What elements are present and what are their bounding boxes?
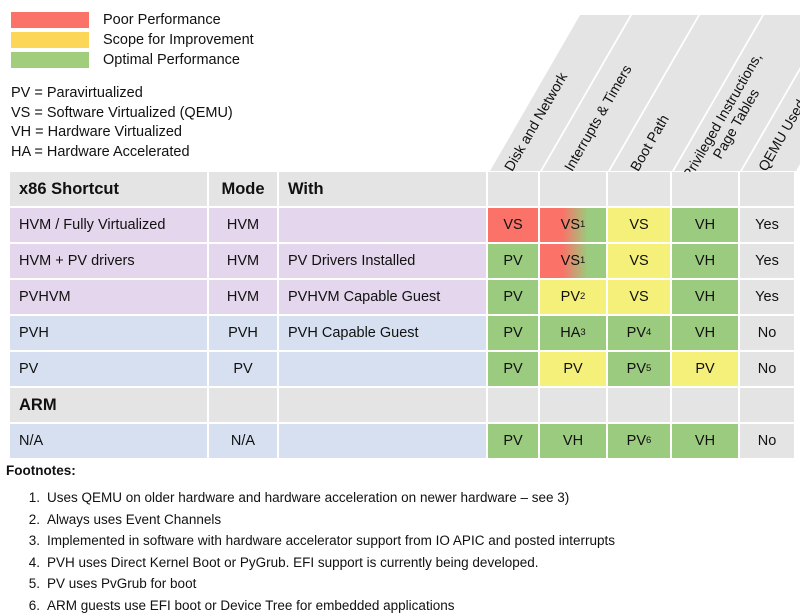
cell-disk-and-network: VS [488, 208, 538, 242]
cell-with [279, 208, 486, 242]
cell-x86-shortcut: N/A [10, 424, 207, 458]
table-row: PVPVPVPVPV5PVNo [10, 352, 790, 386]
cell-with: PVHVM Capable Guest [279, 280, 486, 314]
cell-x86-shortcut: HVM + PV drivers [10, 244, 207, 278]
cell-mode: HVM [209, 244, 277, 278]
table-row: HVM + PV driversHVMPV Drivers InstalledP… [10, 244, 790, 278]
cell-interrupts-and-timers: VS1 [540, 208, 606, 242]
footnote-text: Always uses Event Channels [47, 509, 796, 531]
table-header-row: x86 Shortcut Mode With [10, 172, 790, 206]
cell-boot-path: VS [608, 208, 670, 242]
cell-boot-path: VS [608, 280, 670, 314]
cell-x86-shortcut: PVHVM [10, 280, 207, 314]
header-privileged-instructions [672, 172, 738, 206]
cell-with [279, 352, 486, 386]
footnote-text: ARM guests use EFI boot or Device Tree f… [47, 595, 796, 616]
cell-privileged-instructions: PV [672, 352, 738, 386]
cell-boot-path: PV6 [608, 424, 670, 458]
cell-mode: HVM [209, 280, 277, 314]
footnote-number: 3. [6, 530, 47, 552]
footnotes-section: Footnotes: 1.Uses QEMU on older hardware… [6, 463, 796, 616]
footnotes-title: Footnotes: [6, 463, 796, 478]
cell-mode: N/A [209, 424, 277, 458]
section-arm-d1 [488, 388, 538, 422]
cell-x86-shortcut: PV [10, 352, 207, 386]
section-label-arm: ARM [10, 388, 207, 422]
cell-disk-and-network: PV [488, 424, 538, 458]
section-arm-with [279, 388, 486, 422]
cell-boot-path: PV5 [608, 352, 670, 386]
footnote-item: 3.Implemented in software with hardware … [6, 530, 796, 552]
table-row: HVM / Fully VirtualizedHVMVSVS1VSVHYes [10, 208, 790, 242]
footnote-number: 6. [6, 595, 47, 616]
footnote-item: 4.PVH uses Direct Kernel Boot or PyGrub.… [6, 552, 796, 574]
cell-privileged-instructions: VH [672, 244, 738, 278]
section-arm-mode [209, 388, 277, 422]
footnote-number: 5. [6, 573, 47, 595]
diagonal-header-band: Disk and NetworkInterrupts & TimersBoot … [0, 0, 800, 175]
cell-qemu-used: Yes [740, 280, 794, 314]
cell-x86-shortcut: PVH [10, 316, 207, 350]
cell-mode: PVH [209, 316, 277, 350]
cell-qemu-used: No [740, 352, 794, 386]
section-arm-d2 [540, 388, 606, 422]
cell-privileged-instructions: VH [672, 208, 738, 242]
cell-qemu-used: No [740, 424, 794, 458]
comparison-table: x86 Shortcut Mode With HVM / Fully Virtu… [10, 172, 790, 460]
header-boot-path [608, 172, 670, 206]
footnote-text: PV uses PvGrub for boot [47, 573, 796, 595]
cell-mode: PV [209, 352, 277, 386]
cell-interrupts-and-timers: VS1 [540, 244, 606, 278]
section-arm-d4 [672, 388, 738, 422]
footnote-number: 4. [6, 552, 47, 574]
cell-qemu-used: Yes [740, 244, 794, 278]
footnote-number: 1. [6, 487, 47, 509]
cell-privileged-instructions: VH [672, 316, 738, 350]
section-arm-d3 [608, 388, 670, 422]
cell-privileged-instructions: VH [672, 424, 738, 458]
cell-interrupts-and-timers: HA3 [540, 316, 606, 350]
table-row: PVHPVHPVH Capable GuestPVHA3PV4VHNo [10, 316, 790, 350]
footnote-text: PVH uses Direct Kernel Boot or PyGrub. E… [47, 552, 796, 574]
footnote-item: 1.Uses QEMU on older hardware and hardwa… [6, 487, 796, 509]
cell-qemu-used: Yes [740, 208, 794, 242]
footnote-item: 6.ARM guests use EFI boot or Device Tree… [6, 595, 796, 616]
cell-disk-and-network: PV [488, 352, 538, 386]
header-mode: Mode [209, 172, 277, 206]
footnote-item: 5.PV uses PvGrub for boot [6, 573, 796, 595]
cell-x86-shortcut: HVM / Fully Virtualized [10, 208, 207, 242]
header-with: With [279, 172, 486, 206]
cell-interrupts-and-timers: PV2 [540, 280, 606, 314]
table-section-row-arm: ARM [10, 388, 790, 422]
cell-with: PVH Capable Guest [279, 316, 486, 350]
table-row: N/AN/APVVHPV6VHNo [10, 424, 790, 458]
cell-disk-and-network: PV [488, 316, 538, 350]
cell-with [279, 424, 486, 458]
footnote-item: 2.Always uses Event Channels [6, 509, 796, 531]
header-interrupts-and-timers [540, 172, 606, 206]
cell-qemu-used: No [740, 316, 794, 350]
header-qemu-used [740, 172, 794, 206]
header-x86-shortcut: x86 Shortcut [10, 172, 207, 206]
section-arm-qemu [740, 388, 794, 422]
cell-interrupts-and-timers: VH [540, 424, 606, 458]
cell-boot-path: PV4 [608, 316, 670, 350]
table-row: PVHVMHVMPVHVM Capable GuestPVPV2VSVHYes [10, 280, 790, 314]
cell-disk-and-network: PV [488, 280, 538, 314]
cell-with: PV Drivers Installed [279, 244, 486, 278]
header-disk-and-network [488, 172, 538, 206]
footnote-number: 2. [6, 509, 47, 531]
footnote-text: Implemented in software with hardware ac… [47, 530, 796, 552]
cell-privileged-instructions: VH [672, 280, 738, 314]
cell-interrupts-and-timers: PV [540, 352, 606, 386]
cell-boot-path: VS [608, 244, 670, 278]
footnote-text: Uses QEMU on older hardware and hardware… [47, 487, 796, 509]
cell-mode: HVM [209, 208, 277, 242]
cell-disk-and-network: PV [488, 244, 538, 278]
